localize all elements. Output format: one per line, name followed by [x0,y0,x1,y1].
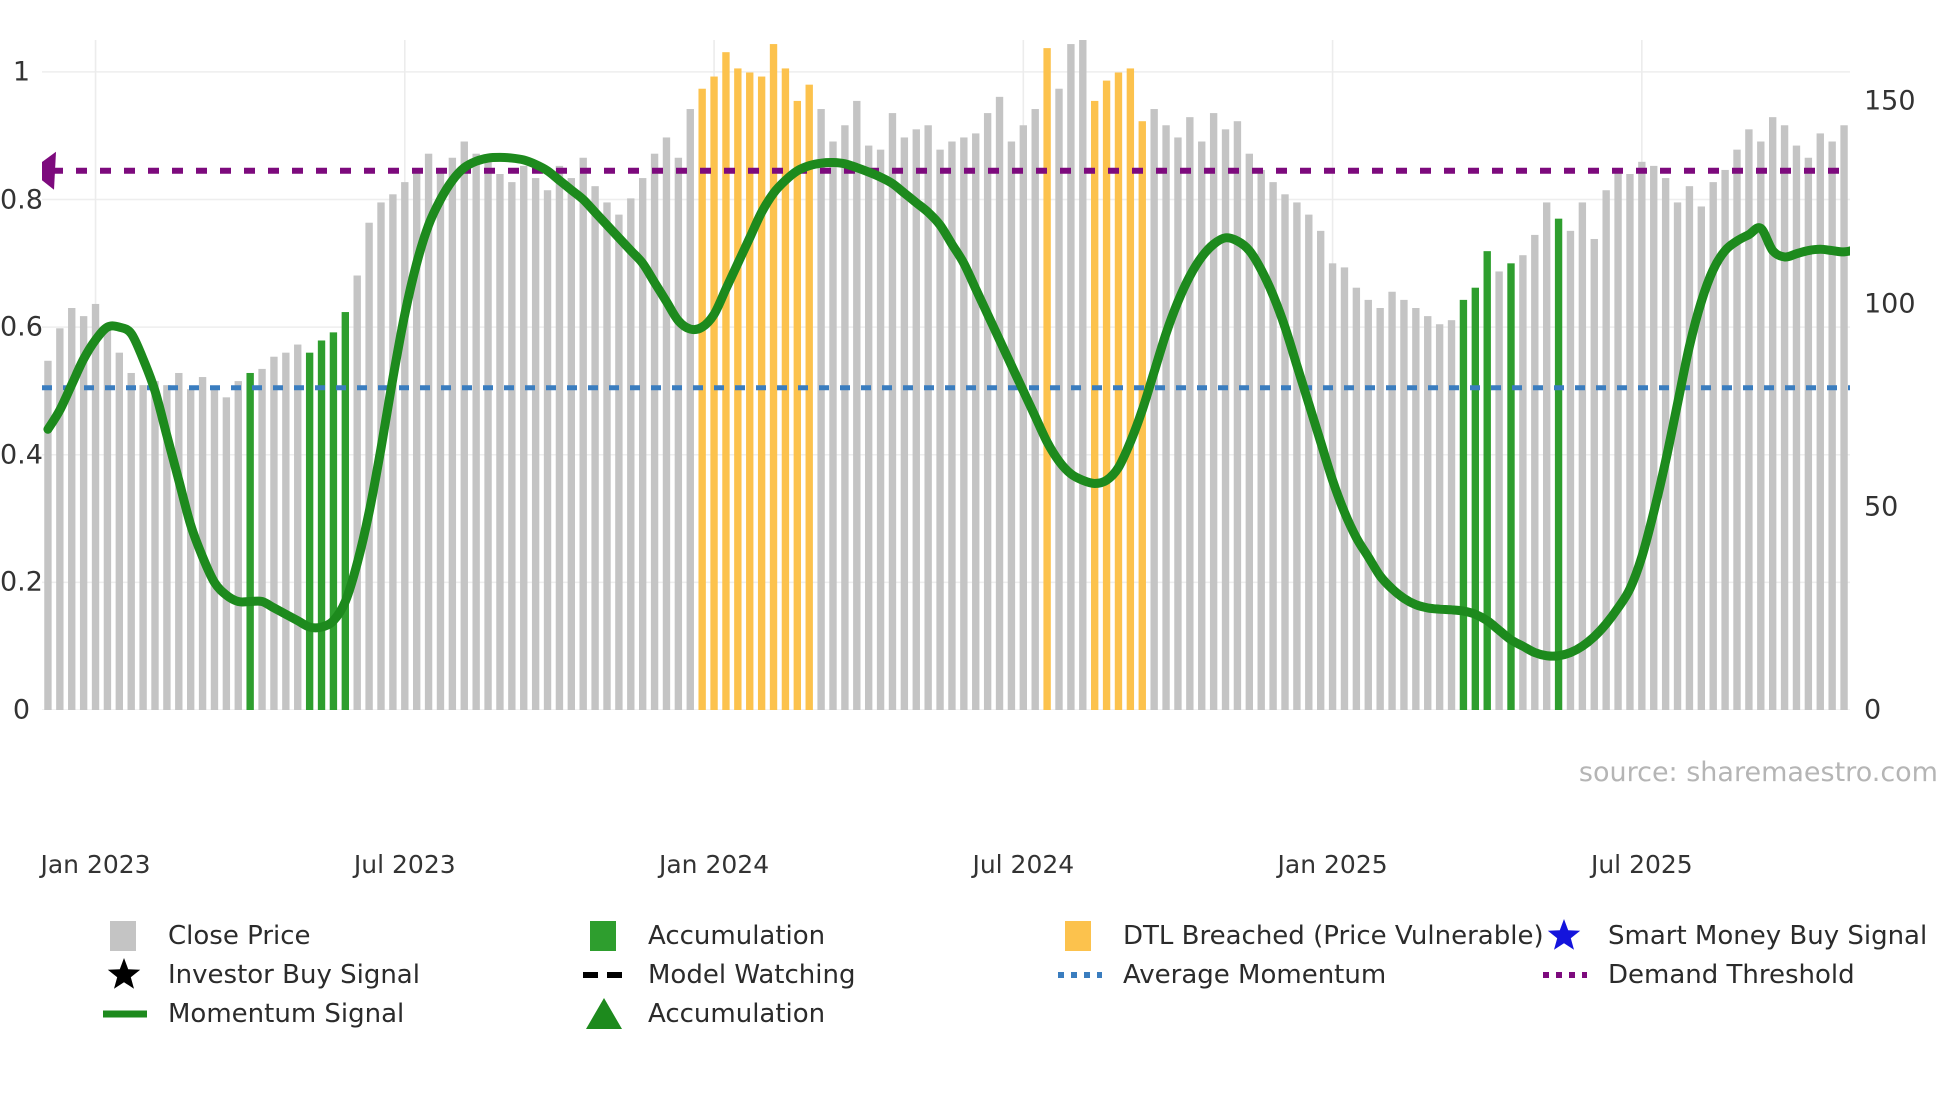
bar-close-price [913,129,920,710]
bar-close-price [1258,170,1265,710]
bar-close-price [1067,44,1074,710]
legend-label-close-price: Close Price [168,921,311,951]
bar-close-price [996,97,1003,710]
legend-label-smart-money: Smart Money Buy Signal [1608,921,1927,951]
bar-close-price [972,133,979,710]
bar-close-price [591,186,598,710]
bar-close-price [663,137,670,710]
bar-close-price [1828,142,1835,710]
plot-area [42,40,1850,710]
y-axis-left-tick: 0 [0,695,30,726]
bar-close-price [1234,121,1241,710]
legend-label-accumulation-bar: Accumulation [648,921,825,951]
chart-canvas [42,40,1850,710]
legend-square-icon [590,921,616,951]
source-watermark: source: sharemaestro.com [1579,757,1938,788]
bar-dtl-breached [794,101,801,710]
bar-close-price [496,174,503,710]
x-axis-tick-label: Jan 2025 [1278,850,1388,879]
bar-close-price [1186,117,1193,710]
bar-close-price [1293,202,1300,710]
legend-marker-smart-money-icon [1540,918,1590,954]
bar-close-price [401,182,408,710]
legend-star-icon [108,958,140,989]
bar-dtl-breached [1043,48,1050,710]
bar-close-price [175,373,182,710]
bar-close-price [1769,117,1776,710]
bar-close-price [211,389,218,710]
bar-close-price [1567,231,1574,710]
legend-item-accumulation-bar[interactable]: Accumulation [580,918,825,954]
bar-close-price [1579,202,1586,710]
bar-close-price [877,150,884,710]
bar-close-price [1412,308,1419,710]
bar-close-price [80,316,87,710]
bar-accumulation [342,312,349,710]
bar-close-price [1210,113,1217,710]
bar-close-price [1365,300,1372,710]
bar-close-price [1341,267,1348,710]
bar-close-price [270,357,277,710]
bar-close-price [1269,182,1276,710]
bar-dtl-breached [1103,81,1110,710]
bar-accumulation [1460,300,1467,710]
legend-marker-dtl-breached-icon [1055,918,1105,954]
legend-square-icon [110,921,136,951]
bar-dtl-breached [722,52,729,710]
legend-label-accumulation-tri: Accumulation [648,999,825,1029]
bar-close-price [1150,109,1157,710]
x-axis-tick-label: Jul 2025 [1591,850,1693,879]
bar-close-price [92,304,99,710]
bar-close-price [1614,170,1621,710]
legend-label-model-watching: Model Watching [648,960,855,990]
bar-close-price [556,166,563,710]
bar-close-price [449,158,456,710]
bar-close-price [984,113,991,710]
x-axis-tick-label: Jan 2024 [659,850,769,879]
bar-close-price [865,146,872,710]
bar-close-price [508,182,515,710]
bar-close-price [675,158,682,710]
bar-close-price [1793,146,1800,710]
bar-close-price [1817,133,1824,710]
bar-close-price [568,178,575,710]
y-axis-left-tick: 0.8 [0,184,30,215]
bar-close-price [116,353,123,710]
legend-marker-demand-threshold-icon [1540,957,1590,993]
legend-marker-model-watching-icon [580,957,630,993]
legend-item-average-momentum[interactable]: Average Momentum [1055,957,1386,993]
legend-label-momentum-signal: Momentum Signal [168,999,404,1029]
bar-close-price [1495,271,1502,710]
bar-close-price [1543,202,1550,710]
bar-dtl-breached [1127,68,1134,710]
bar-close-price [365,223,372,710]
x-axis-tick-label: Jul 2024 [972,850,1074,879]
bar-close-price [294,345,301,710]
legend-label-average-momentum: Average Momentum [1123,960,1386,990]
bar-dtl-breached [770,44,777,710]
legend-label-dtl-breached: DTL Breached (Price Vulnerable) [1123,921,1544,951]
bar-close-price [437,170,444,710]
bar-accumulation [318,340,325,710]
bar-close-price [544,190,551,710]
bar-close-price [1781,125,1788,710]
bar-close-price [1650,166,1657,710]
bar-close-price [1626,174,1633,710]
bar-close-price [187,389,194,710]
bar-close-price [1400,300,1407,710]
bar-close-price [1840,125,1847,710]
legend-item-smart-money[interactable]: Smart Money Buy Signal [1540,918,1927,954]
bar-close-price [889,113,896,710]
bar-accumulation [1484,251,1491,710]
bar-close-price [151,381,158,710]
bar-close-price [829,142,836,710]
y-axis-left-tick: 0.2 [0,567,30,598]
bar-dtl-breached [1091,101,1098,710]
bar-close-price [1424,316,1431,710]
bar-dtl-breached [698,89,705,710]
bar-close-price [1281,194,1288,710]
legend-triangle-icon [586,998,622,1029]
bar-close-price [354,276,361,710]
bar-dtl-breached [710,77,717,710]
bar-close-price [1745,129,1752,710]
bar-close-price [56,328,63,710]
bar-accumulation [1555,219,1562,710]
x-axis-tick-label: Jul 2023 [354,850,456,879]
bar-accumulation [1472,288,1479,710]
bar-close-price [841,125,848,710]
bar-close-price [627,198,634,710]
legend-item-demand-threshold[interactable]: Demand Threshold [1540,957,1855,993]
bar-close-price [651,154,658,710]
legend-marker-average-momentum-icon [1055,957,1105,993]
bar-close-price [1388,292,1395,710]
bar-close-price [532,178,539,710]
close-price-bars [44,40,1850,710]
bar-close-price [1638,162,1645,710]
bar-close-price [1246,154,1253,710]
bar-close-price [580,158,587,710]
bar-close-price [520,166,527,710]
legend-label-investor-buy: Investor Buy Signal [168,960,420,990]
bar-close-price [901,137,908,710]
bar-close-price [1376,308,1383,710]
bar-close-price [1198,142,1205,710]
bar-dtl-breached [758,77,765,710]
y-axis-right-tick: 50 [1864,491,1898,522]
chart-legend: Close PriceInvestor Buy SignalMomentum S… [0,918,1960,1048]
legend-marker-accumulation-tri-icon [580,996,630,1032]
legend-item-model-watching[interactable]: Model Watching [580,957,855,993]
legend-square-icon [1065,921,1091,951]
bar-close-price [1448,320,1455,710]
legend-label-demand-threshold: Demand Threshold [1608,960,1855,990]
demand-threshold-start-marker [42,152,56,190]
bar-close-price [817,109,824,710]
legend-marker-close-price-icon [100,918,150,954]
y-axis-left-tick: 0.4 [0,439,30,470]
bar-close-price [128,373,135,710]
bar-close-price [853,101,860,710]
bar-close-price [1353,288,1360,710]
bar-close-price [223,397,230,710]
bar-close-price [1805,158,1812,710]
bar-close-price [1055,89,1062,710]
y-axis-left-tick: 0.6 [0,312,30,343]
legend-item-accumulation-tri[interactable]: Accumulation [580,996,825,1032]
bar-close-price [1222,129,1229,710]
bar-close-price [1008,142,1015,710]
bar-accumulation [246,373,253,710]
y-axis-right-tick: 100 [1864,288,1916,319]
bar-close-price [258,369,265,710]
bar-close-price [1020,125,1027,710]
bar-close-price [1305,215,1312,710]
bar-close-price [484,162,491,710]
bar-close-price [1686,186,1693,710]
bar-close-price [1174,137,1181,710]
bar-close-price [235,381,242,710]
bar-close-price [1436,324,1443,710]
bar-close-price [1317,231,1324,710]
legend-item-dtl-breached[interactable]: DTL Breached (Price Vulnerable) [1055,918,1544,954]
bar-close-price [472,154,479,710]
bar-dtl-breached [806,85,813,710]
y-axis-left-tick: 1 [0,56,30,87]
bar-close-price [1079,40,1086,710]
y-axis-right-tick: 150 [1864,85,1916,116]
bar-close-price [461,142,468,710]
bar-close-price [1162,125,1169,710]
bar-close-price [282,353,289,710]
x-axis-tick-label: Jan 2023 [40,850,150,879]
bar-close-price [960,137,967,710]
legend-item-momentum-signal[interactable]: Momentum Signal [100,996,404,1032]
legend-item-close-price[interactable]: Close Price [100,918,311,954]
bar-close-price [687,109,694,710]
legend-item-investor-buy[interactable]: Investor Buy Signal [100,957,420,993]
chart-root: 00.20.40.60.81 050100150 Jan 2023Jul 202… [0,0,1960,1102]
bar-close-price [1531,235,1538,710]
bar-close-price [44,361,51,710]
bar-accumulation [306,353,313,710]
legend-marker-accumulation-bar-icon [580,918,630,954]
bar-close-price [948,142,955,710]
bar-close-price [1733,150,1740,710]
bar-close-price [139,385,146,710]
bar-close-price [603,202,610,710]
legend-marker-momentum-signal-icon [100,996,150,1032]
bar-close-price [615,215,622,710]
bar-close-price [389,194,396,710]
bar-close-price [1674,202,1681,710]
y-axis-right-tick: 0 [1864,695,1881,726]
legend-marker-investor-buy-icon [100,957,150,993]
legend-star-icon [1548,919,1580,950]
